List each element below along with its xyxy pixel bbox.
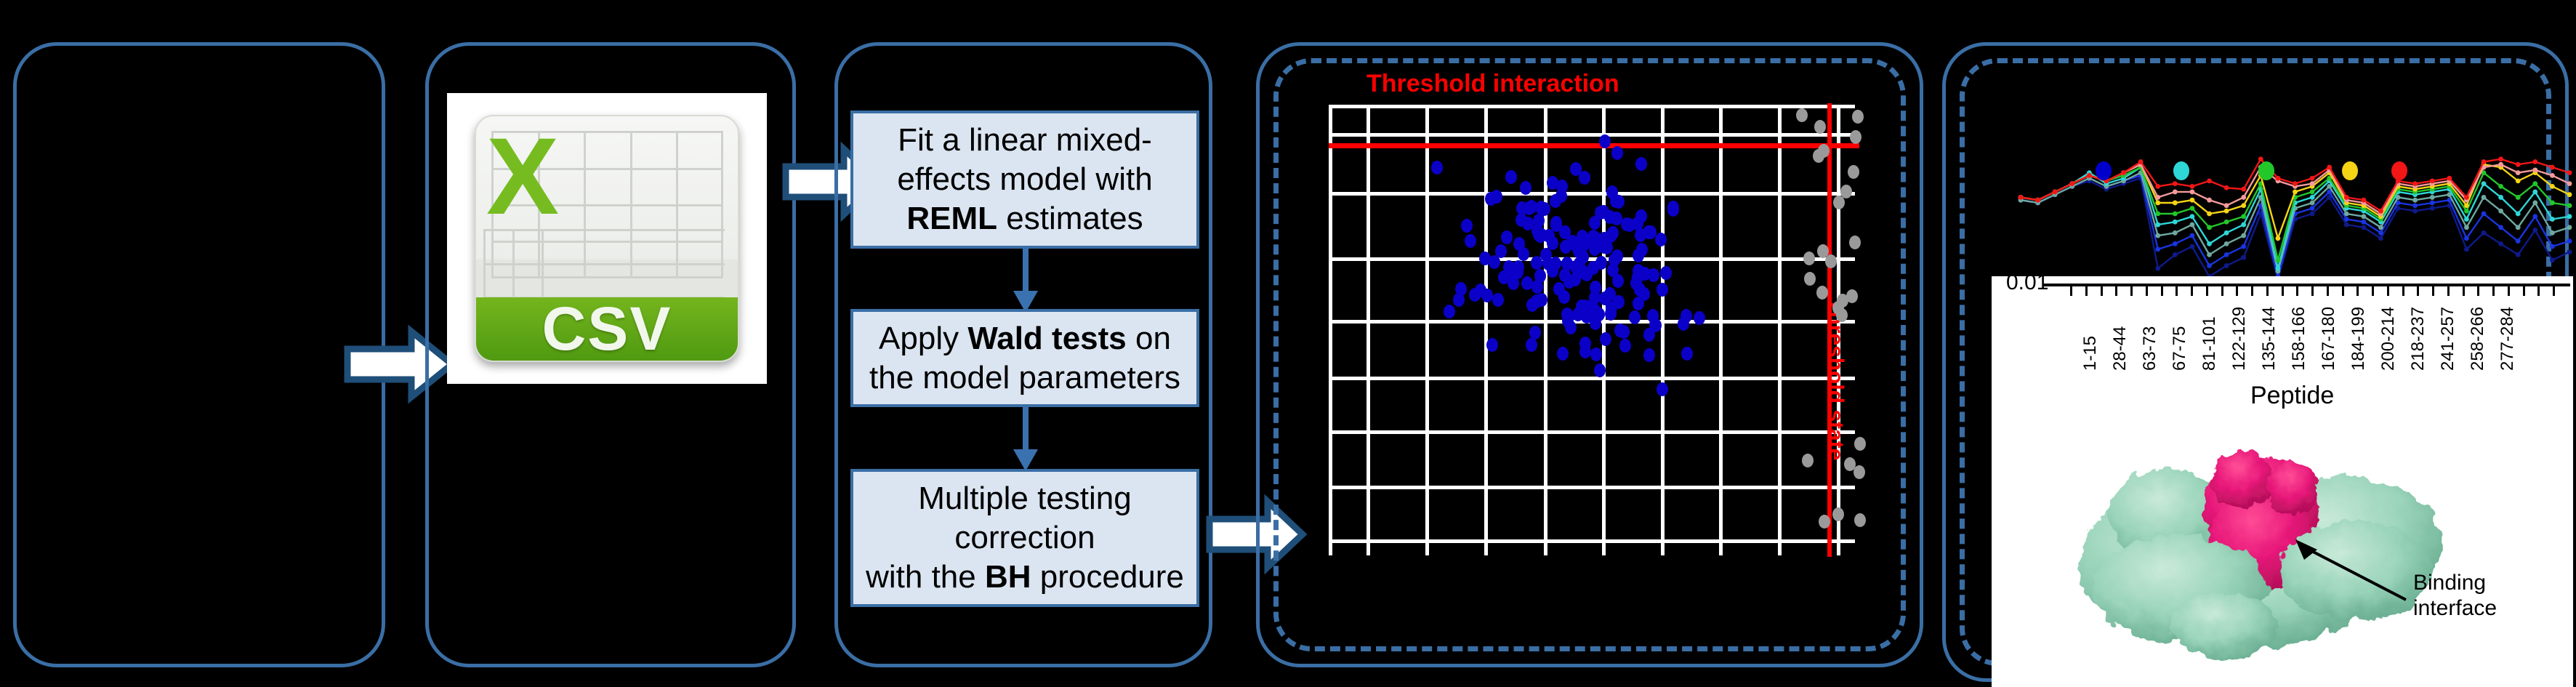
peptide-marker: [2224, 241, 2229, 246]
peptide-marker: [2344, 212, 2349, 217]
peptide-marker: [2464, 203, 2469, 208]
peptide-marker: [2035, 198, 2040, 203]
scatter-point: [1469, 288, 1481, 302]
scatter-point-ns: [1850, 130, 1861, 144]
scatter-point: [1565, 321, 1577, 334]
step-bh-post: procedure: [1031, 559, 1184, 595]
peptide-marker: [2464, 209, 2469, 214]
scatter-point: [1534, 269, 1546, 283]
peptide-marker: [2069, 181, 2074, 186]
peptide-marker: [2224, 230, 2229, 236]
peptide-marker: [2173, 181, 2178, 186]
peptide-marker: [2498, 225, 2503, 230]
peptide-marker: [2241, 187, 2246, 192]
peptide-marker: [2190, 233, 2195, 238]
peptide-marker: [2412, 181, 2418, 186]
peptide-marker: [2190, 190, 2195, 195]
scatter-point-ns: [1854, 437, 1866, 451]
peptide-marker: [2464, 246, 2469, 252]
peptide-marker: [2464, 225, 2469, 230]
peptide-marker: [2310, 190, 2315, 195]
peptide-marker: [2241, 214, 2246, 219]
x-axis-tick: [2523, 286, 2525, 296]
csv-label: CSV: [542, 294, 672, 362]
step-bh-line2: correction: [954, 520, 1095, 555]
peptide-marker: [2430, 201, 2435, 206]
arrow-reml-to-wald: [1007, 249, 1044, 314]
x-axis-tick: [2432, 286, 2434, 296]
scatter-point: [1526, 298, 1538, 312]
peptide-marker: [2155, 233, 2160, 238]
scatter-point: [1579, 345, 1591, 358]
x-axis-tick: [2115, 286, 2117, 296]
binding-interface-annotation: Binding interface: [2413, 571, 2497, 621]
scatter-point: [1594, 363, 1606, 377]
x-axis-tick: [2492, 286, 2495, 296]
scatter-point: [1561, 257, 1573, 270]
volcano-chart: Threshold interaction Threshold state: [1273, 58, 1906, 651]
scatter-point-ns: [1819, 515, 1830, 529]
scatter-point: [1531, 224, 1543, 238]
x-axis-tick: [2206, 286, 2208, 296]
peptide-label: 218-237: [2408, 307, 2428, 371]
scatter-point: [1444, 305, 1455, 318]
peptide-marker: [2532, 159, 2537, 164]
peptide-marker: [2550, 173, 2555, 178]
scatter-point-ns: [1816, 286, 1828, 300]
scatter-point: [1431, 161, 1443, 174]
scatter-point: [1636, 243, 1648, 257]
peptide-marker: [2207, 252, 2212, 257]
scatter-point: [1681, 347, 1693, 361]
peptide-marker: [2498, 156, 2503, 161]
peptide-marker: [2207, 212, 2212, 217]
scatter-point: [1461, 219, 1473, 233]
peptide-marker: [2482, 159, 2487, 164]
peptide-label: 258-266: [2468, 307, 2488, 371]
x-axis-tick: [2553, 286, 2555, 296]
peptide-label: 167-180: [2319, 307, 2339, 371]
peptide-marker: [2276, 236, 2281, 241]
scatter-point: [1520, 181, 1531, 195]
scatter-point: [1655, 233, 1667, 246]
scatter-point: [1611, 146, 1623, 160]
peptide-marker: [2276, 176, 2281, 181]
scatter-point: [1589, 216, 1601, 230]
peptide-marker: [2532, 201, 2537, 206]
scatter-point: [1526, 338, 1537, 352]
scatter-point: [1479, 252, 1491, 265]
step-wald-pre: Apply: [879, 321, 967, 356]
x-axis-tick: [2146, 286, 2148, 296]
scatter-point: [1657, 283, 1668, 297]
scatter-point: [1660, 266, 1672, 280]
step-wald-post: on: [1127, 321, 1171, 356]
scatter-point: [1540, 248, 1552, 262]
peptide-marker: [2173, 201, 2178, 206]
peptide-marker: [2190, 244, 2195, 249]
peptide-marker: [2155, 195, 2160, 200]
peptide-marker: [2516, 195, 2521, 200]
peptide-marker: [2567, 192, 2572, 197]
legend-dot-green: [2258, 161, 2274, 180]
step-reml-bold: REML: [906, 201, 997, 236]
peptide-marker: [2121, 170, 2126, 175]
scatter-point: [1619, 339, 1631, 353]
peptide-marker: [2532, 214, 2537, 219]
x-axis-tick: [2537, 286, 2540, 296]
scatter-point: [1521, 276, 1533, 290]
scatter-point: [1553, 282, 1565, 296]
scatter-point: [1590, 281, 1601, 294]
x-axis-title: Peptide: [2250, 382, 2334, 410]
scatter-point: [1505, 170, 1517, 184]
step-reml-line1: Fit a linear mixed-: [898, 122, 1152, 158]
peptide-marker: [2241, 233, 2246, 238]
peptide-marker: [2550, 230, 2555, 236]
peptide-marker: [2190, 198, 2195, 203]
peptide-marker: [2532, 228, 2537, 233]
scatter-point: [1657, 382, 1668, 396]
peptide-marker: [2190, 222, 2195, 228]
peptide-label: 81-101: [2199, 316, 2220, 371]
scatter-point-ns: [1796, 108, 1808, 122]
peptide-marker: [2361, 225, 2366, 230]
peptide-label: 200-214: [2378, 307, 2399, 371]
peptide-marker: [2567, 170, 2572, 175]
scatter-point: [1518, 247, 1529, 261]
peptide-marker: [2241, 203, 2246, 208]
step-bh-bold: BH: [985, 559, 1031, 595]
peptide-marker: [2190, 206, 2195, 211]
scatter-point: [1635, 157, 1647, 171]
peptide-marker: [2344, 195, 2349, 200]
peptide-marker: [2550, 184, 2555, 189]
peptide-marker: [2412, 203, 2418, 208]
scatter-point: [1621, 217, 1633, 231]
csv-file-icon: X CSV: [447, 93, 767, 384]
peptide-marker: [2498, 209, 2503, 214]
peptide-marker: [2361, 214, 2366, 219]
peptide-marker: [2498, 241, 2503, 246]
scatter-point: [1529, 326, 1541, 340]
x-axis-tick: [2327, 286, 2329, 296]
x-axis-tick: [2342, 286, 2344, 296]
scatter-point-ns: [1848, 165, 1859, 179]
scatter-point: [1635, 228, 1646, 242]
step-reml-line3: estimates: [997, 201, 1143, 236]
peptide-marker: [2550, 258, 2555, 263]
peptide-marker: [2293, 190, 2298, 195]
peptide-lines: [1992, 138, 2573, 284]
peptide-marker: [2378, 225, 2383, 230]
scatter-point: [1486, 338, 1498, 352]
peptide-marker: [2276, 258, 2281, 263]
volcano-points: [1273, 58, 1906, 651]
peptide-label: 63-73: [2140, 326, 2160, 371]
peptide-marker: [2464, 217, 2469, 222]
scatter-point: [1590, 316, 1601, 330]
peptide-marker: [2532, 181, 2537, 186]
scatter-point: [1501, 230, 1513, 244]
peptide-marker: [2447, 176, 2452, 181]
peptide-marker: [2327, 165, 2332, 170]
peptide-marker: [2190, 214, 2195, 219]
scatter-point-ns: [1853, 465, 1865, 479]
peptide-marker: [2344, 217, 2349, 222]
scatter-point: [1667, 203, 1679, 217]
scatter-point-ns: [1803, 252, 1815, 265]
scatter-point-ns: [1854, 513, 1866, 527]
peptide-marker: [2155, 222, 2160, 228]
scatter-point-ns: [1814, 120, 1826, 134]
x-axis-tick: [2508, 286, 2510, 296]
peptide-marker: [2224, 252, 2229, 257]
x-axis-tick: [2387, 286, 2389, 296]
x-axis-tick: [2130, 286, 2133, 296]
peptide-marker: [2482, 181, 2487, 186]
peptide-label: 1-15: [2080, 336, 2101, 371]
legend-dot-cyan: [2173, 161, 2189, 180]
step-bh-pre: with the: [866, 559, 985, 595]
peptide-marker: [2155, 212, 2160, 217]
peptide-marker: [2361, 220, 2366, 225]
y-axis-tick: 0.01: [2006, 270, 2048, 295]
peptide-marker: [2464, 195, 2469, 200]
peptide-marker: [2378, 209, 2383, 214]
peptide-marker: [2378, 236, 2383, 241]
peptide-marker: [2412, 209, 2418, 214]
step-reml-line2: effects model with: [897, 161, 1152, 197]
binding-label-line1: Binding: [2413, 571, 2497, 596]
scatter-point: [1635, 209, 1647, 223]
x-axis-tick: [2161, 286, 2163, 296]
scatter-point: [1604, 287, 1616, 301]
scatter-point: [1481, 289, 1493, 302]
peptide-marker: [2430, 195, 2435, 200]
scatter-point-ns: [1832, 507, 1844, 521]
peptide-marker: [2430, 178, 2435, 183]
peptide-marker: [2310, 195, 2315, 200]
scatter-point-ns: [1849, 236, 1861, 249]
excel-x-icon: X: [486, 121, 581, 229]
peptide-marker: [2173, 241, 2178, 246]
scatter-point-ns: [1840, 185, 1852, 198]
peptide-marker: [2241, 255, 2246, 260]
x-axis-tick: [2236, 286, 2238, 296]
peptide-marker: [2155, 201, 2160, 206]
x-axis-tick: [2372, 286, 2374, 296]
scatter-point: [1495, 244, 1507, 258]
x-axis-tick: [2356, 286, 2359, 296]
scatter-point: [1526, 200, 1537, 214]
peptide-marker: [2293, 181, 2298, 186]
peptide-marker: [2207, 263, 2212, 268]
x-axis-tick: [2191, 286, 2193, 296]
x-axis-ticks: [2044, 286, 2570, 298]
panel-data-collection: [13, 42, 385, 667]
peptide-marker: [2207, 225, 2212, 230]
peptide-marker: [2173, 220, 2178, 225]
peptide-marker: [2224, 220, 2229, 225]
peptide-marker: [2482, 230, 2487, 236]
scatter-point: [1579, 171, 1590, 185]
peptide-marker: [2310, 181, 2315, 186]
scatter-point: [1605, 307, 1617, 321]
peptide-marker: [2361, 198, 2366, 203]
peptide-marker: [2498, 195, 2503, 200]
peptide-marker: [2567, 203, 2572, 208]
peptide-marker: [2516, 178, 2521, 183]
x-axis-tick: [2282, 286, 2284, 296]
x-axis-tick: [2417, 286, 2419, 296]
scatter-point: [1611, 249, 1623, 263]
peptide-marker: [2482, 195, 2487, 200]
scatter-point: [1648, 268, 1659, 282]
peptide-marker: [2532, 167, 2537, 172]
x-axis-tick: [2251, 286, 2253, 296]
scatter-point: [1569, 273, 1581, 286]
csv-label-band: CSV: [476, 297, 738, 361]
step-bh-line1: Multiple testing: [918, 481, 1131, 516]
peptide-label: 184-199: [2348, 307, 2369, 371]
x-axis-tick: [2070, 286, 2072, 296]
peptide-chart: [1992, 138, 2573, 284]
x-axis-tick: [2311, 286, 2314, 296]
legend-dot-yellow: [2342, 161, 2358, 180]
scatter-point-ns: [1852, 110, 1864, 124]
peptide-marker: [2190, 184, 2195, 189]
legend-dot-blue: [2096, 161, 2112, 180]
binding-label-line2: interface: [2413, 596, 2497, 622]
peptide-marker: [2550, 165, 2555, 170]
scatter-point: [1649, 318, 1661, 332]
scatter-point: [1614, 324, 1626, 337]
scatter-point: [1590, 347, 1602, 361]
peptide-marker: [2344, 222, 2349, 228]
scatter-point: [1612, 274, 1624, 288]
scatter-point-ns: [1804, 272, 1816, 286]
scatter-point: [1638, 287, 1650, 301]
peptide-label: 158-166: [2289, 307, 2309, 371]
step-wald-line2: the model parameters: [869, 360, 1180, 395]
peptide-marker: [2310, 212, 2315, 217]
peptide-marker: [2310, 206, 2315, 211]
peptide-marker: [2310, 201, 2315, 206]
peptide-marker: [2241, 195, 2246, 200]
scatter-point: [1605, 229, 1617, 243]
x-axis-tick: [2266, 286, 2269, 296]
peptide-marker: [2241, 222, 2246, 228]
scatter-point: [1557, 347, 1569, 361]
peptide-marker: [2224, 185, 2229, 190]
peptide-marker: [2567, 249, 2572, 254]
peptide-marker: [2516, 238, 2521, 244]
peptide-marker: [2173, 230, 2178, 236]
x-axis-category-labels: 1-1528-4463-7367-7581-101122-129135-1441…: [2044, 298, 2570, 385]
step-wald-bold: Wald tests: [967, 321, 1126, 356]
scatter-point: [1678, 317, 1689, 331]
x-axis-tick: [2221, 286, 2223, 296]
scatter-point: [1578, 238, 1590, 252]
peptide-marker: [2550, 217, 2555, 222]
step-bh-box: Multiple testing correction with the BH …: [850, 469, 1199, 607]
x-axis-tick: [2402, 286, 2404, 296]
peptide-marker: [2532, 190, 2537, 195]
peptide-marker: [2258, 156, 2263, 161]
peptide-marker: [2155, 246, 2160, 252]
peptide-marker: [2207, 241, 2212, 246]
x-axis-tick: [2175, 286, 2178, 296]
peptide-marker: [2241, 244, 2246, 249]
peptide-marker: [2276, 266, 2281, 271]
peptide-label: 241-257: [2438, 307, 2458, 371]
peptide-marker: [2550, 244, 2555, 249]
peptide-marker: [2516, 162, 2521, 167]
scatter-point: [1555, 189, 1567, 203]
peptide-marker: [2173, 252, 2178, 257]
scatter-point: [1595, 256, 1607, 270]
peptide-marker: [2550, 201, 2555, 206]
step-wald-box: Apply Wald tests on the model parameters: [850, 309, 1199, 407]
peptide-marker: [2310, 176, 2315, 181]
scatter-point: [1600, 332, 1611, 346]
legend-dot-red: [2391, 161, 2407, 180]
scatter-point: [1629, 310, 1641, 324]
peptide-marker: [2430, 206, 2435, 211]
peptide-label: 277-284: [2497, 307, 2518, 371]
peptide-marker: [2464, 236, 2469, 241]
csv-icon-body: X CSV: [475, 115, 740, 362]
peptide-marker: [2224, 203, 2229, 208]
peptide-marker: [2567, 181, 2572, 186]
scatter-point: [1613, 195, 1625, 209]
peptide-label: 28-44: [2110, 326, 2130, 371]
scatter-point-ns: [1818, 144, 1830, 158]
peptide-label: 67-75: [2170, 326, 2190, 371]
peptide-marker: [2516, 170, 2521, 175]
scatter-point: [1492, 293, 1504, 307]
peptide-marker: [2482, 212, 2487, 217]
peptide-marker: [2173, 212, 2178, 217]
step-reml-box: Fit a linear mixed- effects model with R…: [850, 111, 1199, 249]
peptide-marker: [2567, 214, 2572, 219]
peptide-marker: [2516, 252, 2521, 257]
peptide-label: 122-129: [2229, 307, 2250, 371]
scatter-point-ns: [1802, 454, 1814, 467]
peptide-marker: [2516, 225, 2521, 230]
peptide-marker: [2378, 230, 2383, 236]
scatter-point: [1694, 311, 1705, 325]
peptide-marker: [2087, 173, 2092, 178]
scatter-point: [1491, 190, 1502, 204]
peptide-marker: [2516, 212, 2521, 217]
x-axis-tick: [2101, 286, 2103, 296]
peptide-marker: [2224, 209, 2229, 214]
scatter-point: [1453, 293, 1465, 307]
peptide-marker: [2567, 225, 2572, 230]
peptide-marker: [2138, 159, 2144, 164]
scatter-point: [1465, 234, 1476, 248]
peptide-marker: [2207, 198, 2212, 203]
scatter-point: [1643, 348, 1655, 362]
peptide-marker: [2018, 195, 2024, 200]
peptide-marker: [2498, 162, 2503, 167]
peptide-marker: [2155, 184, 2160, 189]
x-axis-tick: [2463, 286, 2465, 296]
x-axis-tick: [2296, 286, 2298, 296]
peptide-label: 135-144: [2259, 307, 2279, 371]
